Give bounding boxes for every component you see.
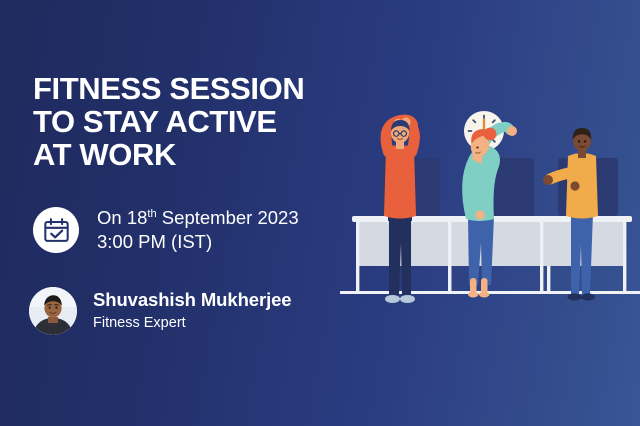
calendar-check-icon — [33, 207, 79, 253]
floor-line — [340, 291, 640, 294]
office-stretching-illustration — [340, 0, 640, 426]
speaker-text: Shuvashish Mukherjee Fitness Expert — [93, 289, 291, 332]
page-title: FITNESS SESSION TO STAY ACTIVE AT WORK — [33, 72, 373, 171]
avatar — [29, 287, 77, 335]
date-rest: September 2023 — [157, 207, 299, 228]
date-time-text: On 18th September 2023 3:00 PM (IST) — [97, 206, 299, 255]
left-content-column: FITNESS SESSION TO STAY ACTIVE AT WORK — [33, 72, 373, 171]
speaker-block: Shuvashish Mukherjee Fitness Expert — [29, 287, 291, 335]
speaker-role: Fitness Expert — [93, 314, 291, 333]
date-line: On 18th September 2023 — [97, 206, 299, 230]
person-right-arm-cross-stretch — [543, 128, 598, 301]
webinar-poster: FITNESS SESSION TO STAY ACTIVE AT WORK O… — [0, 0, 640, 426]
person-left-overhead-stretch — [384, 117, 416, 303]
speaker-name: Shuvashish Mukherjee — [93, 289, 291, 311]
date-prefix: On 18 — [97, 207, 147, 228]
date-time-block: On 18th September 2023 3:00 PM (IST) — [33, 206, 299, 255]
date-ordinal-suffix: th — [147, 208, 156, 220]
time-line: 3:00 PM (IST) — [97, 230, 299, 254]
